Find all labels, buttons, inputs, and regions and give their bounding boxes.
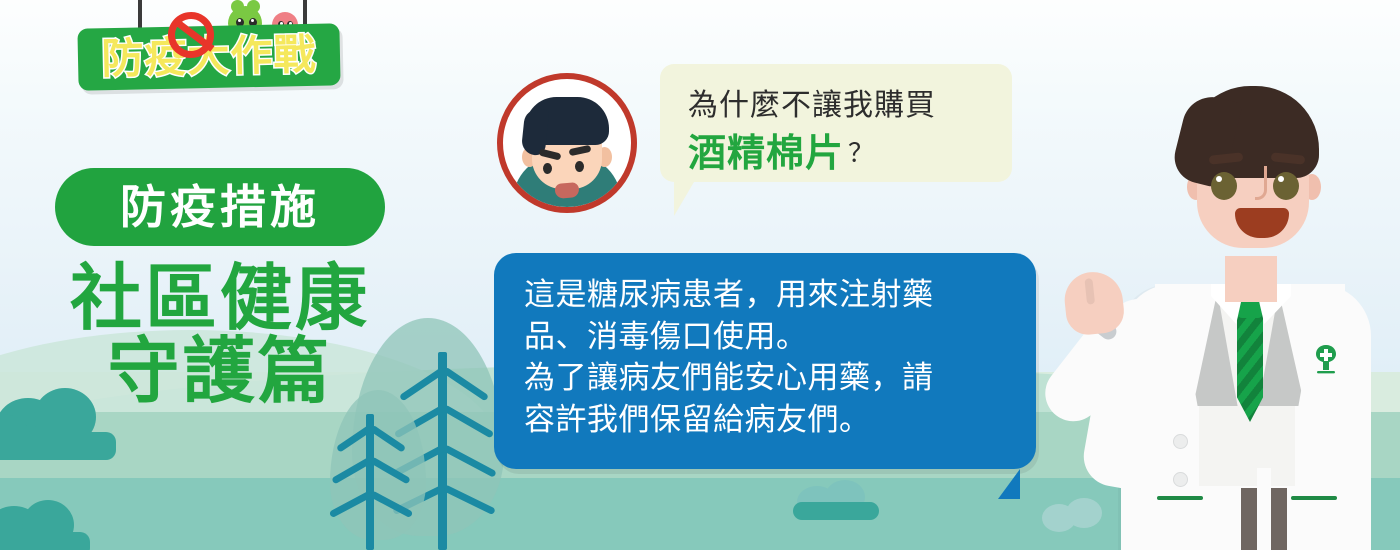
page-title-line1: 社區健康: [40, 262, 400, 335]
answer-line1: 這是糖尿病患者，用來注射藥: [524, 275, 1014, 317]
question-bubble: 為什麼不讓我購買 酒精棉片？: [660, 64, 1012, 182]
page-title: 社區健康 守護篇: [40, 262, 400, 409]
bush-center: [793, 478, 879, 520]
answer-line2: 品、消毒傷口使用。: [524, 317, 1014, 359]
answer-bubble: 這是糖尿病患者，用來注射藥 品、消毒傷口使用。 為了讓病友們能安心用藥，請 容許…: [494, 253, 1036, 469]
answer-text: 這是糖尿病患者，用來注射藥 品、消毒傷口使用。 為了讓病友們能安心用藥，請 容許…: [524, 275, 1014, 441]
question-mark: ？: [848, 139, 875, 169]
coat-pocket-left: [1157, 496, 1203, 500]
neck: [1225, 256, 1277, 302]
coat-split: [1257, 468, 1271, 550]
eye-left: [1211, 172, 1237, 200]
coat-button-bottom: [1173, 472, 1188, 487]
measures-badge-label: 防疫措施: [120, 184, 320, 230]
answer-line3: 為了讓病友們能安心用藥，請: [524, 358, 1014, 400]
avatar-eye-left: [543, 163, 552, 174]
eye-right: [1273, 172, 1299, 200]
coat-button-top: [1173, 434, 1188, 449]
avatar-eye-right: [575, 161, 584, 172]
pharmacy-cross-tree-logo: [1311, 344, 1341, 376]
question-line1: 為什麼不讓我購買: [688, 80, 936, 124]
page-title-line2: 守護篇: [40, 335, 400, 408]
pharmacist-illustration: [1059, 48, 1400, 550]
waving-hand: [1062, 269, 1126, 337]
bush-left-lower: [0, 498, 96, 550]
nose: [1255, 166, 1267, 200]
answer-line4: 容許我們保留給病友們。: [524, 400, 1014, 442]
question-line2: 酒精棉片？: [688, 122, 875, 177]
measures-badge: 防疫措施: [55, 168, 385, 246]
question-highlight: 酒精棉片: [688, 131, 844, 175]
coat-pocket-right: [1291, 496, 1337, 500]
infographic-banner: 防疫大作戰 防疫措施 社區健康 守護篇 為什麼不讓我購買 酒精棉片？ 這是糖尿病…: [0, 0, 1400, 550]
angry-man-avatar: [497, 73, 637, 213]
